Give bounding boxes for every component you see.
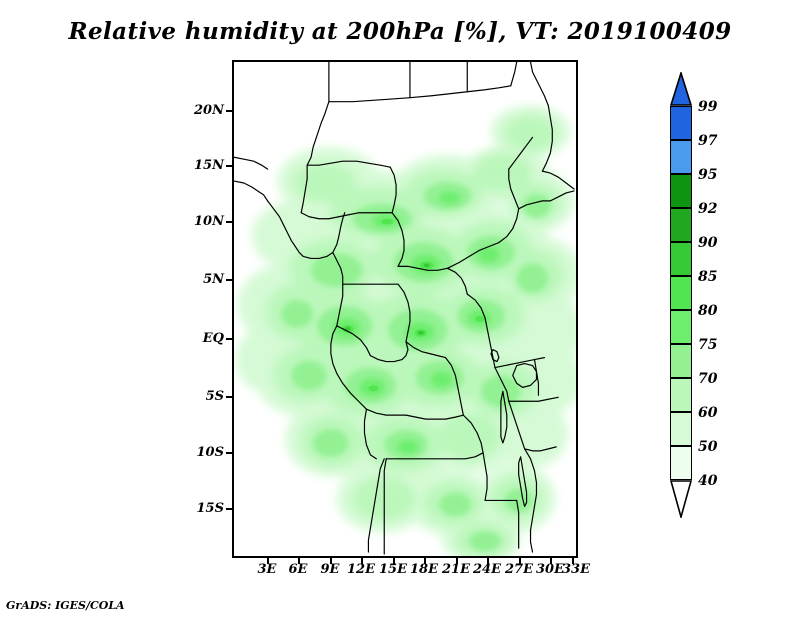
colorbar-band-85[interactable] <box>670 276 692 310</box>
x-tick-label-33e: 33E <box>553 562 599 577</box>
map-panel[interactable] <box>232 60 578 558</box>
colorbar-label-70: 70 <box>698 371 717 387</box>
y-tick-label-15n: 15N <box>164 158 224 173</box>
colorbar-arrow-below-min <box>670 480 692 518</box>
colorbar-label-99: 99 <box>698 99 717 115</box>
colorbar-label-75: 75 <box>698 337 717 353</box>
country-borders-layer <box>234 62 576 556</box>
colorbar-band-97[interactable] <box>670 140 692 174</box>
colorbar-label-90: 90 <box>698 235 717 251</box>
colorbar-band-75[interactable] <box>670 344 692 378</box>
y-tick-label-5n: 5N <box>164 272 224 287</box>
y-tick-mark <box>226 338 232 340</box>
colorbar-band-50[interactable] <box>670 446 692 480</box>
colorbar-band-60[interactable] <box>670 412 692 446</box>
y-tick-mark <box>226 279 232 281</box>
colorbar-band-99[interactable] <box>670 106 692 140</box>
colorbar-band-92[interactable] <box>670 208 692 242</box>
colorbar-band-90[interactable] <box>670 242 692 276</box>
y-tick-mark <box>226 165 232 167</box>
y-tick-label-15s: 15S <box>164 501 224 516</box>
colorbar-band-80[interactable] <box>670 310 692 344</box>
colorbar-arrow-above-max <box>670 72 692 106</box>
colorbar-label-85: 85 <box>698 269 717 285</box>
y-tick-label-20n: 20N <box>164 103 224 118</box>
colorbar-label-60: 60 <box>698 405 717 421</box>
y-tick-mark <box>226 396 232 398</box>
y-tick-mark <box>226 221 232 223</box>
colorbar-band-70[interactable] <box>670 378 692 412</box>
y-tick-label-10s: 10S <box>164 445 224 460</box>
page-title: Relative humidity at 200hPa [%], VT: 201… <box>0 18 800 45</box>
colorbar-label-92: 92 <box>698 201 717 217</box>
colorbar-label-80: 80 <box>698 303 717 319</box>
colorbar[interactable] <box>670 72 692 545</box>
y-tick-label-10n: 10N <box>164 214 224 229</box>
y-tick-label-eq: EQ <box>164 331 224 346</box>
colorbar-band-95[interactable] <box>670 174 692 208</box>
colorbar-label-40: 40 <box>698 473 717 489</box>
y-tick-mark <box>226 110 232 112</box>
colorbar-label-95: 95 <box>698 167 717 183</box>
colorbar-label-97: 97 <box>698 133 717 149</box>
grads-attribution: GrADS: IGES/COLA <box>6 599 125 612</box>
y-tick-mark <box>226 452 232 454</box>
colorbar-label-50: 50 <box>698 439 717 455</box>
y-tick-label-5s: 5S <box>164 389 224 404</box>
y-tick-mark <box>226 508 232 510</box>
